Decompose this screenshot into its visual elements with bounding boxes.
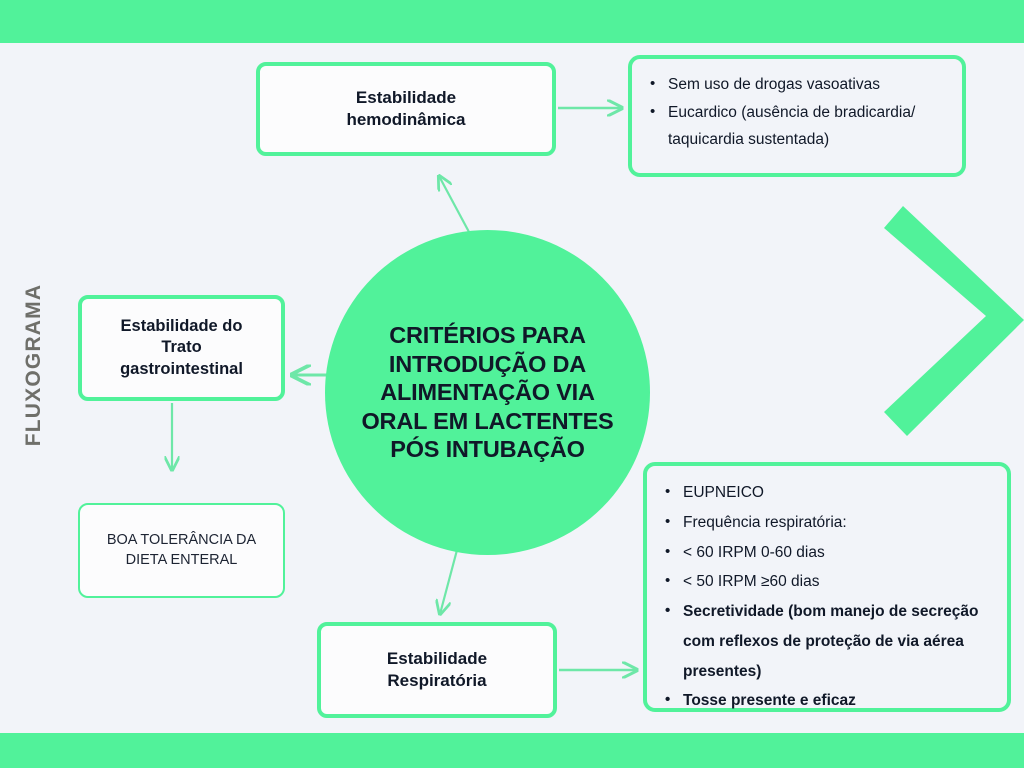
node-estabilidade-respiratoria[interactable]: Estabilidade Respiratória	[317, 622, 557, 718]
card-hemodynamic-criteria: Sem uso de drogas vasoativasEucardico (a…	[628, 55, 966, 177]
node-boa-tolerancia-dieta-enteral[interactable]: BOA TOLERÂNCIA DA DIETA ENTERAL	[78, 503, 285, 598]
top-accent-band	[0, 0, 1024, 43]
hemodynamic-criteria-list: Sem uso de drogas vasoativasEucardico (a…	[642, 71, 946, 154]
card-respiratory-criteria: EUPNEICOFrequência respiratória:< 60 IRP…	[643, 462, 1011, 712]
list-item: Eucardico (ausência de bradicardia/ taqu…	[666, 99, 946, 154]
side-label-fluxograma: FLUXOGRAMA	[22, 265, 46, 465]
central-node-criteria[interactable]: CRITÉRIOS PARA INTRODUÇÃO DA ALIMENTAÇÃO…	[325, 230, 650, 555]
central-node-label: CRITÉRIOS PARA INTRODUÇÃO DA ALIMENTAÇÃO…	[347, 321, 627, 464]
list-item: < 60 IRPM 0-60 dias	[681, 538, 991, 568]
bottom-accent-band	[0, 733, 1024, 768]
node-estabilidade-hemodinamica[interactable]: Estabilidade hemodinâmica	[256, 62, 556, 156]
connector-circle-to-respiratory	[440, 550, 457, 614]
list-item: Tosse presente e eficaz	[681, 686, 991, 716]
respiratory-criteria-list: EUPNEICOFrequência respiratória:< 60 IRP…	[657, 478, 991, 716]
list-item: Sem uso de drogas vasoativas	[666, 71, 946, 99]
node-estabilidade-trato-gastrointestinal[interactable]: Estabilidade do Trato gastrointestinal	[78, 295, 285, 401]
list-item: Secretividade (bom manejo de secreção co…	[681, 597, 991, 686]
chevron-right-icon	[884, 206, 1024, 436]
list-item: < 50 IRPM ≥60 dias	[681, 567, 991, 597]
list-item: EUPNEICO	[681, 478, 991, 508]
list-item: Frequência respiratória:	[681, 508, 991, 538]
flowchart-canvas: FLUXOGRAMA CRITÉRIOS PARA INTRODUÇÃO DA …	[0, 0, 1024, 768]
